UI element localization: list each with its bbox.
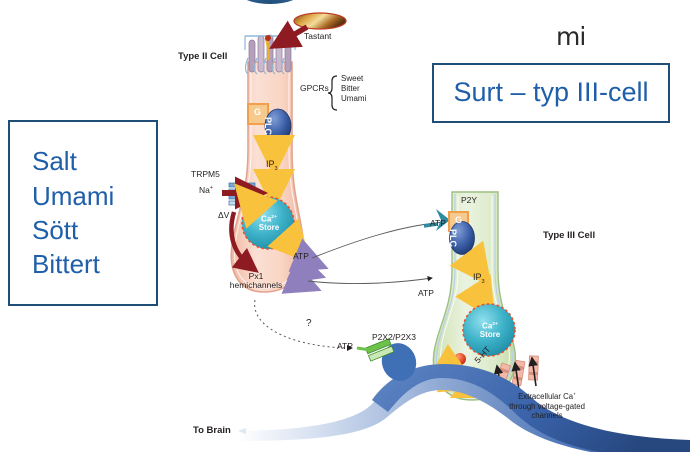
label-gpcrs: GPCRs: [300, 84, 329, 93]
atp-diffusion-curve-lower: [308, 278, 432, 284]
label-p2x-receptor: P2X2/P2X3: [372, 333, 416, 342]
annotation-left-line-2: Umami: [32, 179, 156, 213]
label-question-mark: ?: [306, 318, 312, 329]
label-ca-store-type2: Ca2+ Store: [253, 215, 285, 233]
label-trpm5: TRPM5: [191, 170, 220, 179]
label-type-2-cell: Type II Cell: [178, 52, 227, 62]
annotation-right-text: Surt – typ III-cell: [453, 75, 648, 111]
mi-logo: mi: [556, 24, 585, 49]
label-atp-p2y: ATP: [430, 219, 446, 228]
atp-to-p2x-arrow: [357, 348, 370, 350]
tastant-particle: [294, 13, 346, 29]
label-px1-hemichannels: Px1 hemichannels: [216, 272, 296, 291]
label-atp-vesicle: ATP: [293, 252, 309, 261]
label-atp-nerve: ATP: [337, 342, 353, 351]
label-type-3-cell: Type III Cell: [543, 231, 595, 241]
gpcr-bracket: [328, 76, 337, 110]
label-g-protein-type3: G: [455, 216, 462, 226]
annotation-left-line-3: Sött: [32, 213, 156, 247]
label-plc-type3: PLC: [447, 229, 457, 247]
slide-canvas: Type II Cell Tastant GPCRs Sweet Bitter …: [0, 0, 690, 452]
label-atp-middle: ATP: [418, 289, 434, 298]
label-extracellular-calcium: Extracellular Ca+ through voltage-gated …: [482, 392, 612, 421]
label-gpcr-bitter: Bitter: [341, 85, 360, 94]
annotation-box-right[interactable]: Surt – typ III-cell: [432, 63, 670, 123]
label-na-ion: Na+: [199, 186, 213, 195]
label-delta-v: ΔV: [218, 211, 229, 220]
label-ip3-type2: IP3: [266, 160, 278, 172]
label-g-protein-type2: G: [254, 108, 261, 118]
label-p2y-receptor: P2Y: [461, 196, 477, 205]
label-gpcr-sweet: Sweet: [341, 75, 363, 84]
annotation-left-line-4: Bittert: [32, 247, 156, 281]
label-ip3-type3: IP3: [473, 273, 485, 285]
label-gpcr-umami: Umami: [341, 95, 366, 104]
label-plc-type2: PLC: [262, 117, 272, 135]
annotation-left-line-1: Salt: [32, 144, 156, 178]
annotation-box-left[interactable]: Salt Umami Sött Bittert: [8, 120, 158, 306]
label-tastant: Tastant: [304, 32, 331, 41]
label-to-brain: To Brain: [193, 426, 231, 436]
label-ca-store-type3: Ca2+ Store: [474, 322, 506, 340]
